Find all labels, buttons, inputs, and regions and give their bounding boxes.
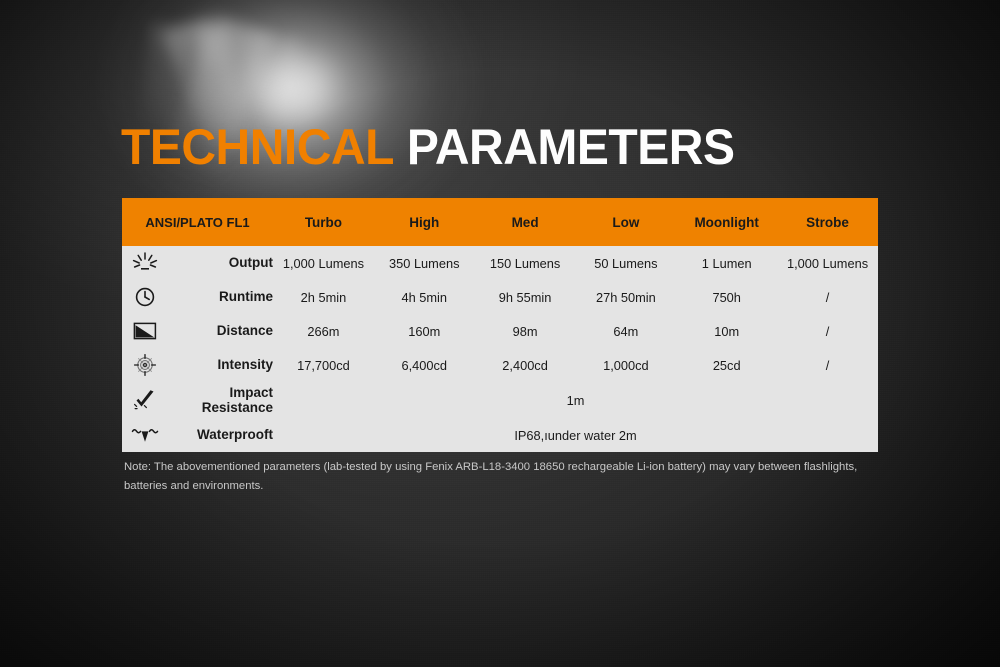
impact-label-line2: Resistance bbox=[202, 400, 273, 415]
row-label-text: Distance bbox=[174, 323, 273, 338]
cell-distance-high: 160m bbox=[374, 314, 475, 348]
cell-runtime-strobe: / bbox=[777, 280, 878, 314]
row-label-text: Waterprooft bbox=[174, 427, 273, 442]
column-header-moonlight: Moonlight bbox=[676, 198, 777, 246]
page-title: TECHNICAL PARAMETERS bbox=[121, 122, 735, 172]
impact-label-line1: Impact bbox=[230, 385, 274, 400]
impact-resistance-icon bbox=[122, 389, 168, 411]
technical-parameters-table: ANSI/PLATO FL1 Turbo High Med Low Moonli… bbox=[122, 198, 878, 452]
row-label-runtime: Runtime bbox=[122, 280, 273, 314]
table-row: ImpactResistance 1m bbox=[122, 382, 878, 418]
table-header-row: ANSI/PLATO FL1 Turbo High Med Low Moonli… bbox=[122, 198, 878, 246]
peak-intensity-icon bbox=[122, 353, 168, 377]
cell-intensity-moonlight: 25cd bbox=[676, 348, 777, 382]
cell-runtime-med: 9h 55min bbox=[475, 280, 576, 314]
table-row: Waterprooft IP68,ıunder water 2m bbox=[122, 418, 878, 452]
row-label-waterproof: Waterprooft bbox=[122, 418, 273, 452]
row-label-text: ImpactResistance bbox=[174, 385, 273, 415]
cell-runtime-moonlight: 750h bbox=[676, 280, 777, 314]
cell-distance-turbo: 266m bbox=[273, 314, 374, 348]
cell-intensity-low: 1,000cd bbox=[575, 348, 676, 382]
cell-impact-resistance-value: 1m bbox=[273, 382, 878, 418]
cell-runtime-high: 4h 5min bbox=[374, 280, 475, 314]
light-output-icon bbox=[122, 252, 168, 274]
table-row: Distance 266m 160m 98m 64m 10m / bbox=[122, 314, 878, 348]
cell-intensity-strobe: / bbox=[777, 348, 878, 382]
cell-output-turbo: 1,000 Lumens bbox=[273, 246, 374, 280]
page-title-secondary: PARAMETERS bbox=[407, 119, 735, 175]
cell-distance-med: 98m bbox=[475, 314, 576, 348]
beam-distance-icon bbox=[122, 321, 168, 341]
cell-intensity-high: 6,400cd bbox=[374, 348, 475, 382]
cell-output-med: 150 Lumens bbox=[475, 246, 576, 280]
cell-output-low: 50 Lumens bbox=[575, 246, 676, 280]
table-row: Runtime 2h 5min 4h 5min 9h 55min 27h 50m… bbox=[122, 280, 878, 314]
column-header-strobe: Strobe bbox=[777, 198, 878, 246]
cell-output-strobe: 1,000 Lumens bbox=[777, 246, 878, 280]
column-header-high: High bbox=[374, 198, 475, 246]
clock-icon bbox=[122, 286, 168, 308]
waterproof-icon bbox=[122, 425, 168, 445]
cell-runtime-low: 27h 50min bbox=[575, 280, 676, 314]
column-header-turbo: Turbo bbox=[273, 198, 374, 246]
column-header-low: Low bbox=[575, 198, 676, 246]
column-header-standard: ANSI/PLATO FL1 bbox=[122, 198, 273, 246]
table-row: Intensity 17,700cd 6,400cd 2,400cd 1,000… bbox=[122, 348, 878, 382]
cell-intensity-turbo: 17,700cd bbox=[273, 348, 374, 382]
row-label-text: Runtime bbox=[174, 289, 273, 304]
cell-runtime-turbo: 2h 5min bbox=[273, 280, 374, 314]
row-label-intensity: Intensity bbox=[122, 348, 273, 382]
page-title-primary: TECHNICAL bbox=[121, 119, 394, 175]
cell-distance-strobe: / bbox=[777, 314, 878, 348]
table-note: Note: The abovementioned parameters (lab… bbox=[124, 458, 876, 497]
row-label-text: Intensity bbox=[174, 357, 273, 372]
cell-distance-moonlight: 10m bbox=[676, 314, 777, 348]
table-row: Output 1,000 Lumens 350 Lumens 150 Lumen… bbox=[122, 246, 878, 280]
column-header-med: Med bbox=[475, 198, 576, 246]
cell-waterproof-value: IP68,ıunder water 2m bbox=[273, 418, 878, 452]
row-label-distance: Distance bbox=[122, 314, 273, 348]
row-label-output: Output bbox=[122, 246, 273, 280]
cell-intensity-med: 2,400cd bbox=[475, 348, 576, 382]
row-label-text: Output bbox=[174, 255, 273, 270]
cell-output-high: 350 Lumens bbox=[374, 246, 475, 280]
cell-distance-low: 64m bbox=[575, 314, 676, 348]
cell-output-moonlight: 1 Lumen bbox=[676, 246, 777, 280]
row-label-impact-resistance: ImpactResistance bbox=[122, 382, 273, 418]
